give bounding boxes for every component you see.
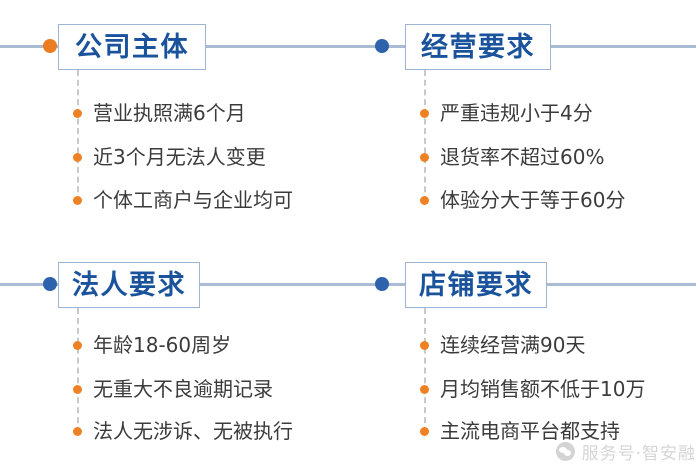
branch-title-card-company-entity[interactable]: 公司主体	[58, 24, 206, 70]
list-item-label: 无重大不良逾期记录	[93, 379, 273, 399]
branch-node-dot-legal-person-requirements[interactable]	[43, 277, 57, 291]
bullet-dot-icon	[73, 341, 82, 350]
list-item-label: 月均销售额不低于10万	[440, 379, 645, 399]
branch-title-card-shop-requirements[interactable]: 店铺要求	[405, 262, 547, 308]
bullet-dot-icon	[420, 109, 429, 118]
bullet-dot-icon	[73, 153, 82, 162]
branch-title-label: 法人要求	[72, 272, 186, 299]
branch-title-label: 经营要求	[421, 34, 535, 61]
bullet-dot-icon	[73, 109, 82, 118]
branch-title-label: 店铺要求	[419, 272, 533, 299]
list-item[interactable]: 个体工商户与企业均可	[73, 190, 293, 210]
branch-title-card-legal-person-requirements[interactable]: 法人要求	[58, 262, 200, 308]
bullet-dot-icon	[420, 341, 429, 350]
bullet-dot-icon	[420, 427, 429, 436]
list-item[interactable]: 主流电商平台都支持	[420, 421, 620, 441]
branch-stem-operation-requirements	[424, 70, 426, 202]
list-item-label: 近3个月无法人变更	[93, 147, 266, 167]
list-item[interactable]: 近3个月无法人变更	[73, 147, 266, 167]
list-item[interactable]: 营业执照满6个月	[73, 103, 246, 123]
list-item-label: 法人无涉诉、无被执行	[93, 421, 293, 441]
list-item-label: 个体工商户与企业均可	[93, 190, 293, 210]
branch-node-dot-company-entity[interactable]	[43, 39, 57, 53]
list-item[interactable]: 法人无涉诉、无被执行	[73, 421, 293, 441]
branch-node-dot-shop-requirements[interactable]	[375, 277, 389, 291]
list-item[interactable]: 退货率不超过60%	[420, 147, 604, 167]
list-item[interactable]: 月均销售额不低于10万	[420, 379, 645, 399]
branch-title-label: 公司主体	[75, 34, 189, 61]
bullet-dot-icon	[420, 385, 429, 394]
list-item[interactable]: 连续经营满90天	[420, 335, 585, 355]
branch-stem-shop-requirements	[424, 308, 426, 433]
bullet-dot-icon	[420, 153, 429, 162]
list-item[interactable]: 无重大不良逾期记录	[73, 379, 273, 399]
bullet-dot-icon	[73, 427, 82, 436]
list-item-label: 年龄18-60周岁	[93, 335, 231, 355]
list-item-label: 严重违规小于4分	[440, 103, 593, 123]
wechat-badge-icon	[556, 442, 575, 461]
list-item-label: 体验分大于等于60分	[440, 190, 625, 210]
list-item-label: 连续经营满90天	[440, 335, 585, 355]
branch-title-card-operation-requirements[interactable]: 经营要求	[405, 24, 551, 70]
bullet-dot-icon	[73, 385, 82, 394]
branch-stem-legal-person-requirements	[77, 308, 79, 433]
list-item-label: 主流电商平台都支持	[440, 421, 620, 441]
list-item-label: 退货率不超过60%	[440, 147, 604, 167]
list-item[interactable]: 年龄18-60周岁	[73, 335, 231, 355]
infographic-canvas: 公司主体 营业执照满6个月 近3个月无法人变更 个体工商户与企业均可 经营要求 …	[0, 0, 700, 470]
bullet-dot-icon	[73, 196, 82, 205]
branch-node-dot-operation-requirements[interactable]	[375, 39, 389, 53]
bullet-dot-icon	[420, 196, 429, 205]
branch-stem-company-entity	[77, 70, 79, 202]
list-item[interactable]: 严重违规小于4分	[420, 103, 593, 123]
list-item[interactable]: 体验分大于等于60分	[420, 190, 625, 210]
list-item-label: 营业执照满6个月	[93, 103, 246, 123]
